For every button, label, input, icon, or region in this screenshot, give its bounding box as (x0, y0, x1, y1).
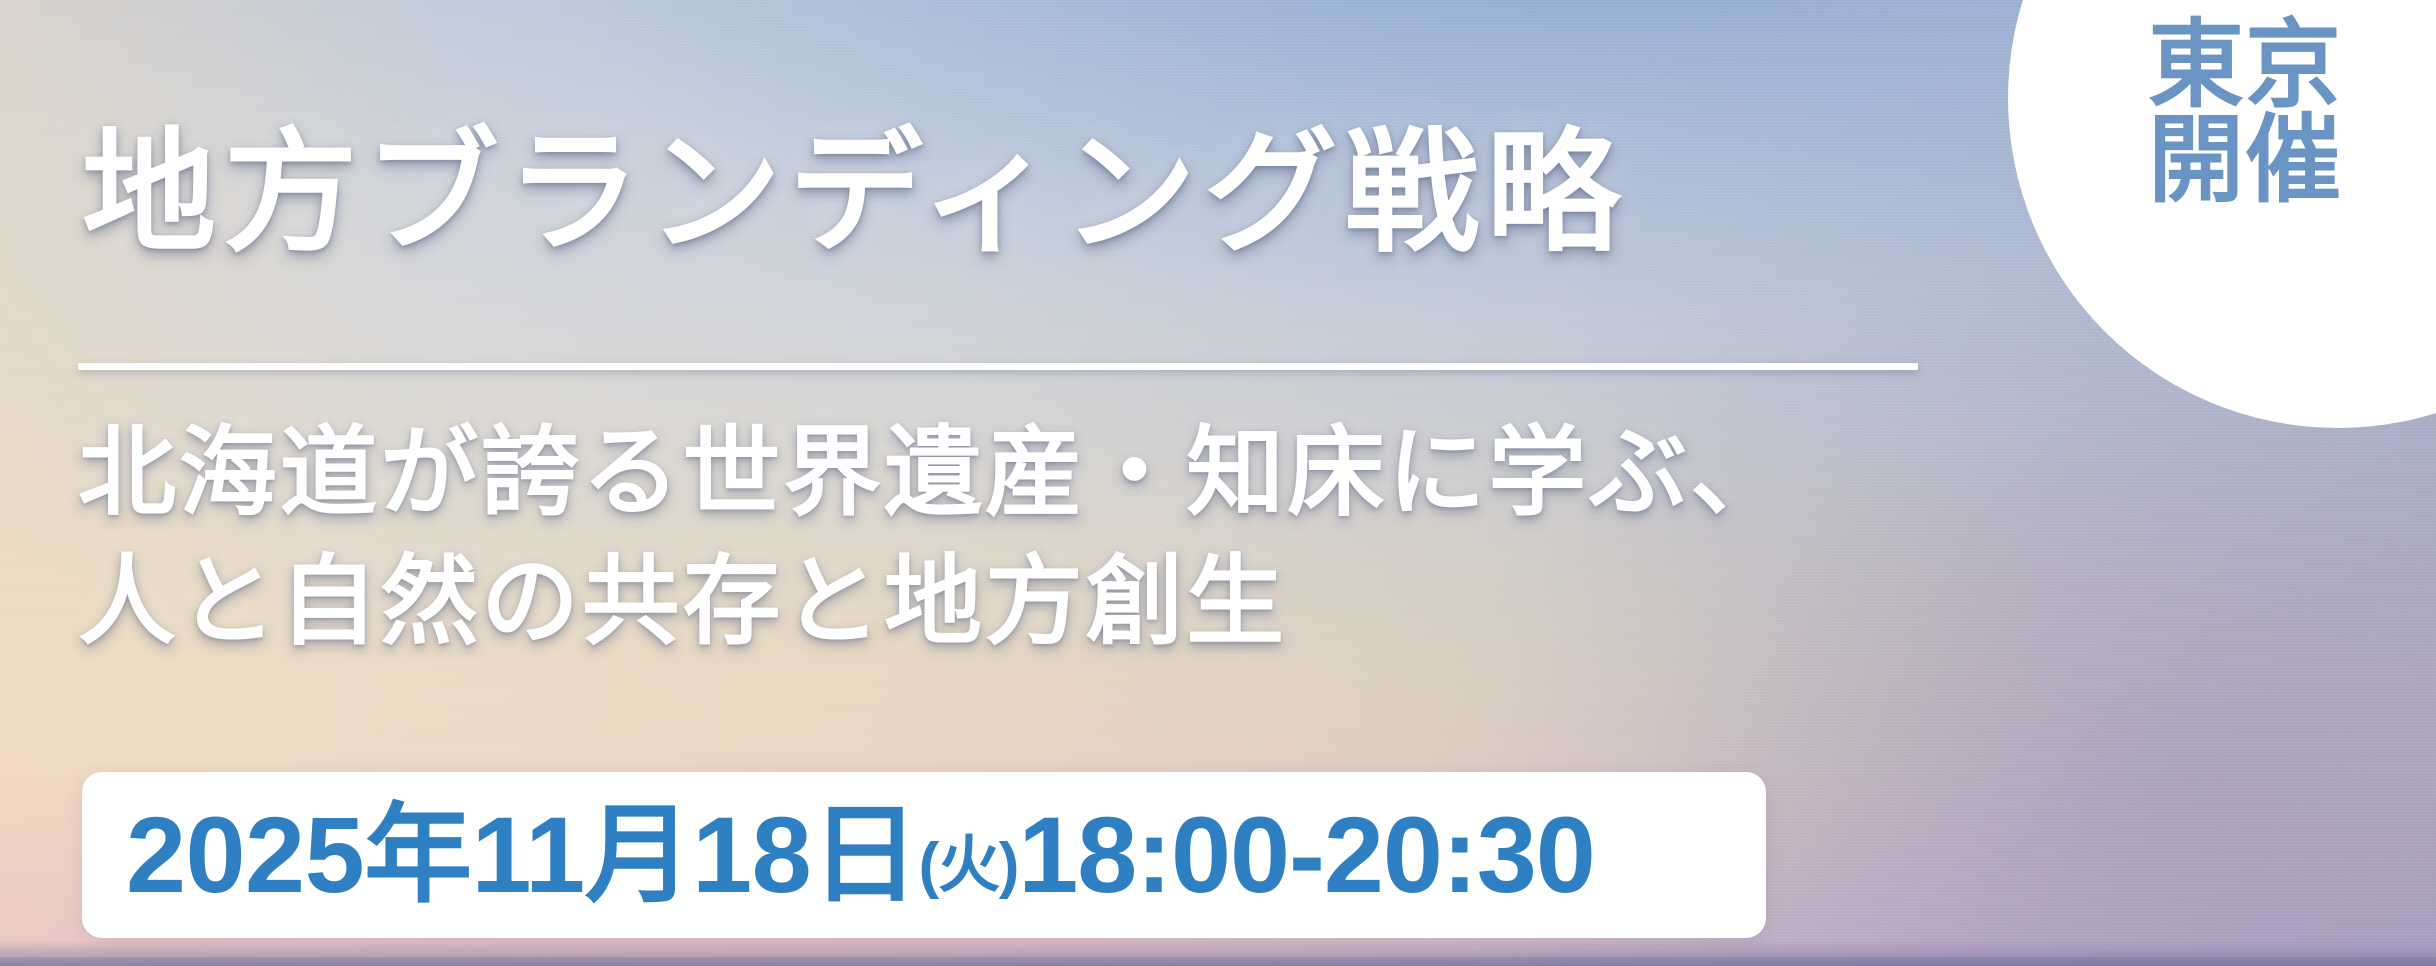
subtitle: 北海道が誇る世界遺産・知床に学ぶ、 人と自然の共存と地方創生 (78, 408, 1791, 667)
subtitle-line-1: 北海道が誇る世界遺産・知床に学ぶ、 (78, 408, 1791, 537)
event-date-day-of-week: (火) (919, 835, 1019, 897)
event-banner: 東京 開催 地方ブランディング戦略 北海道が誇る世界遺産・知床に学ぶ、 人と自然… (0, 0, 2436, 966)
banner-content: 地方ブランディング戦略 北海道が誇る世界遺産・知床に学ぶ、 人と自然の共存と地方… (0, 0, 2436, 966)
page-title: 地方ブランディング戦略 (82, 123, 1628, 265)
title-divider (78, 363, 1918, 370)
event-date-ymd: 2025年11月18日 (126, 801, 919, 909)
event-date-text: 2025年11月18日 (火) 18:00-20:30 (82, 801, 1595, 909)
subtitle-line-2: 人と自然の共存と地方創生 (78, 537, 1791, 666)
event-date-pill: 2025年11月18日 (火) 18:00-20:30 (82, 772, 1766, 938)
event-time-range: 18:00-20:30 (1018, 801, 1595, 909)
